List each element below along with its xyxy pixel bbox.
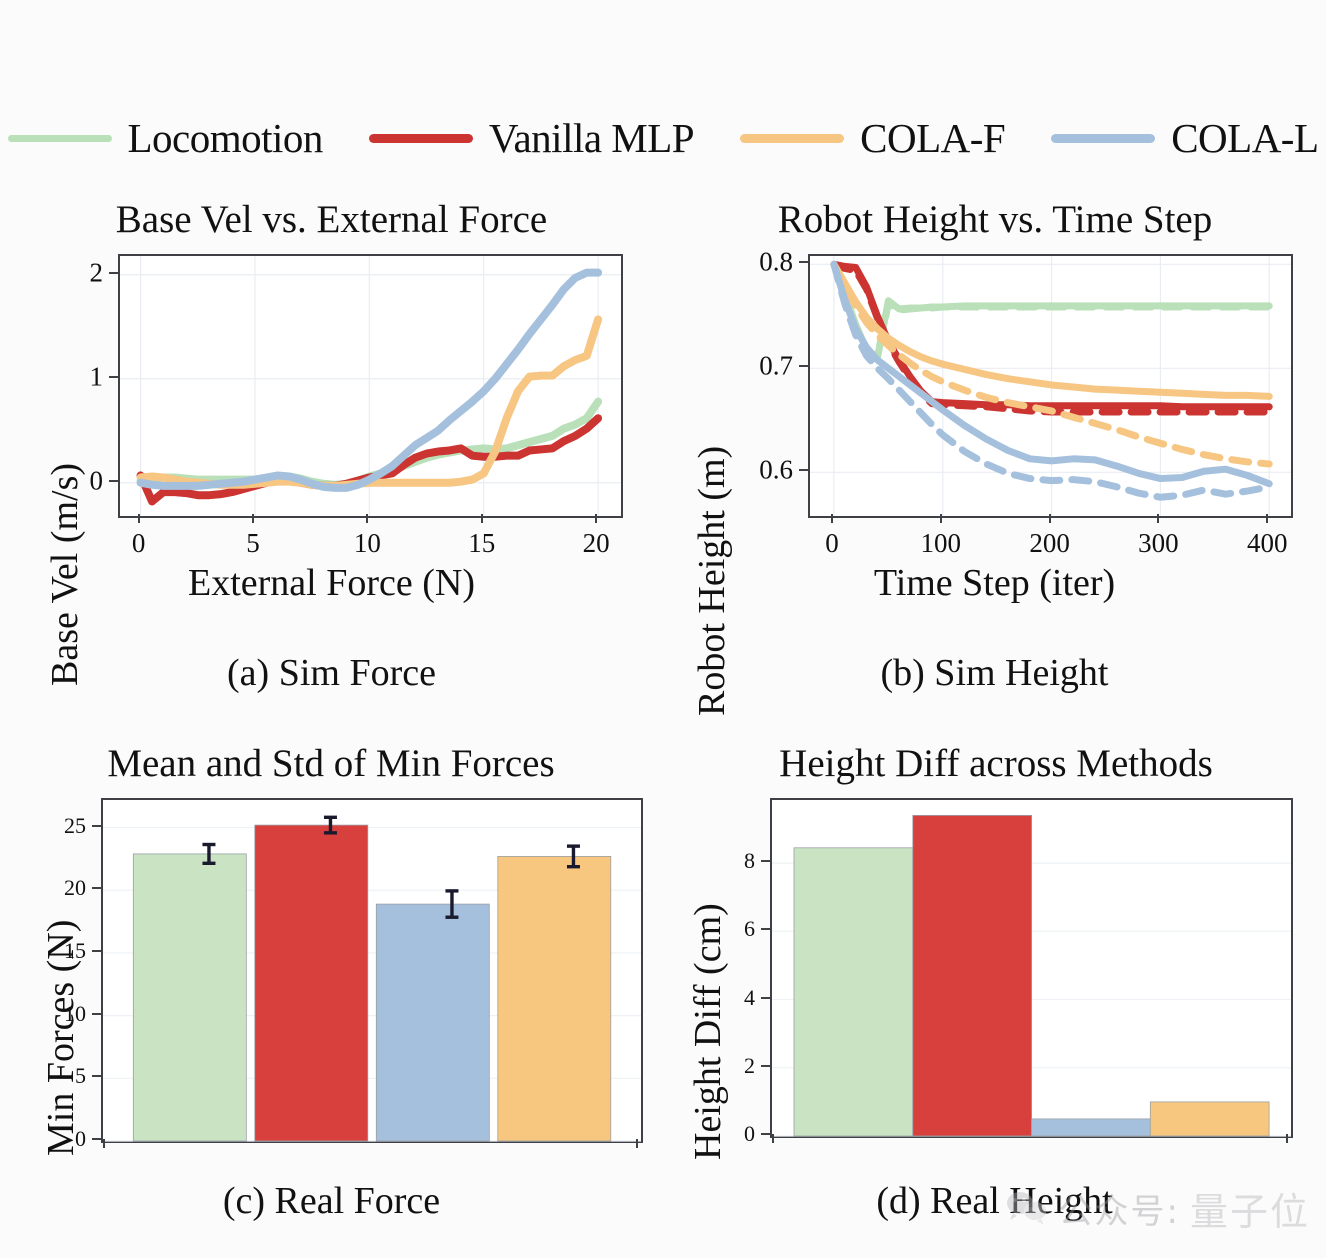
legend-swatch-vanilla-mlp bbox=[369, 134, 473, 143]
watermark: 公众号: 量子位 bbox=[1005, 1181, 1310, 1236]
legend-label-locomotion: Locomotion bbox=[128, 118, 323, 159]
panel-c-ytick bbox=[92, 950, 101, 952]
panel-d-ytick-label: 2 bbox=[667, 1055, 755, 1077]
panel-b-ytick-label: 0.8 bbox=[693, 249, 793, 276]
panel-c-ytick-label: 5 bbox=[0, 1065, 86, 1087]
figure-root: Locomotion Vanilla MLP COLA-F COLA-L Bas… bbox=[0, 0, 1326, 1258]
panel-a-xtick-label: 5 bbox=[246, 530, 260, 557]
panel-b-xtick-label: 400 bbox=[1247, 530, 1288, 557]
panel-a-ytick bbox=[109, 480, 118, 482]
legend-item-locomotion: Locomotion bbox=[8, 118, 323, 159]
panel-b-ytick bbox=[799, 261, 808, 263]
panel-c-ytick-label: 20 bbox=[0, 877, 86, 899]
panel-d-ytick bbox=[761, 997, 770, 999]
legend-item-cola-l: COLA-L bbox=[1051, 118, 1318, 159]
legend-item-cola-f: COLA-F bbox=[740, 118, 1005, 159]
panel-a-xtick-label: 20 bbox=[583, 530, 610, 557]
panel-sim-force: Base Vel vs. External Force Base Vel (m/… bbox=[0, 196, 663, 706]
panel-d-ytick-label: 6 bbox=[667, 918, 755, 940]
legend-swatch-cola-f bbox=[740, 134, 844, 143]
bar bbox=[133, 854, 246, 1141]
panel-b-ytick-label: 0.7 bbox=[693, 353, 793, 380]
panel-b-xtick-label: 200 bbox=[1029, 530, 1070, 557]
panel-d-ytick bbox=[761, 1065, 770, 1067]
panel-b-xtick bbox=[1266, 514, 1268, 523]
panel-a-xtick-label: 15 bbox=[468, 530, 495, 557]
legend-swatch-cola-l bbox=[1051, 134, 1155, 143]
panel-a-title: Base Vel vs. External Force bbox=[0, 200, 663, 239]
panel-b-ytick bbox=[799, 365, 808, 367]
panel-d-ytick bbox=[761, 1133, 770, 1135]
panel-a-plot-area bbox=[118, 254, 623, 518]
panel-c-caption: (c) Real Force bbox=[0, 1182, 663, 1220]
panel-a-xtick-label: 10 bbox=[354, 530, 381, 557]
panel-sim-height: Robot Height vs. Time Step Robot Height … bbox=[663, 196, 1326, 706]
panel-c-title: Mean and Std of Min Forces bbox=[6, 744, 656, 783]
figure-legend: Locomotion Vanilla MLP COLA-F COLA-L bbox=[0, 108, 1326, 168]
legend-label-cola-l: COLA-L bbox=[1171, 118, 1318, 159]
bar bbox=[1032, 1119, 1151, 1136]
panel-a-ytick-label: 1 bbox=[3, 363, 103, 390]
legend-label-cola-f: COLA-F bbox=[860, 118, 1005, 159]
wechat-icon bbox=[1005, 1190, 1049, 1228]
panel-a-ytick-label: 0 bbox=[3, 467, 103, 494]
panel-d-title: Height Diff across Methods bbox=[671, 744, 1321, 783]
panel-a-xlabel: External Force (N) bbox=[0, 564, 663, 602]
panel-c-ytick-label: 25 bbox=[0, 815, 86, 837]
panel-d-ytick bbox=[761, 928, 770, 930]
watermark-prefix: 公众号: bbox=[1059, 1184, 1180, 1233]
panel-b-xtick bbox=[1049, 514, 1051, 523]
panel-d-xtick bbox=[772, 1134, 774, 1143]
panel-a-ytick bbox=[109, 376, 118, 378]
panel-a-ytick bbox=[109, 272, 118, 274]
panel-c-xtick bbox=[636, 1139, 638, 1148]
panel-c-ytick bbox=[92, 887, 101, 889]
legend-swatch-locomotion bbox=[8, 135, 112, 142]
panel-b-title: Robot Height vs. Time Step bbox=[675, 200, 1315, 239]
panel-real-force: Mean and Std of Min Forces Min Forces (N… bbox=[0, 740, 663, 1240]
panel-d-plot-area bbox=[770, 798, 1293, 1138]
panel-a-caption: (a) Sim Force bbox=[0, 654, 663, 692]
panel-b-plot-area bbox=[808, 254, 1293, 518]
bar bbox=[794, 848, 913, 1136]
bars bbox=[133, 817, 611, 1141]
watermark-name: 量子位 bbox=[1190, 1181, 1310, 1236]
panel-a-xtick bbox=[595, 514, 597, 523]
panel-d-ytick-label: 8 bbox=[667, 850, 755, 872]
panel-b-ytick-label: 0.6 bbox=[693, 457, 793, 484]
panel-d-xtick bbox=[1286, 1134, 1288, 1143]
panel-b-xtick-label: 0 bbox=[825, 530, 839, 557]
panel-b-xtick-label: 100 bbox=[921, 530, 962, 557]
panel-c-ytick-label: 0 bbox=[0, 1128, 86, 1150]
bar bbox=[498, 856, 611, 1141]
panel-a-xtick bbox=[366, 514, 368, 523]
bar bbox=[1150, 1102, 1269, 1136]
panel-d-ytick bbox=[761, 860, 770, 862]
bar bbox=[255, 825, 368, 1141]
panel-b-xtick bbox=[1157, 514, 1159, 523]
panel-b-xtick bbox=[831, 514, 833, 523]
panel-real-height: Height Diff across Methods Height Diff (… bbox=[663, 740, 1326, 1240]
panel-a-xtick bbox=[138, 514, 140, 523]
panel-c-ytick-label: 10 bbox=[0, 1003, 86, 1025]
panel-c-ytick bbox=[92, 1075, 101, 1077]
panel-c-ytick-label: 15 bbox=[0, 940, 86, 962]
bar bbox=[913, 815, 1032, 1136]
panel-b-xlabel: Time Step (iter) bbox=[663, 564, 1326, 602]
panel-d-ytick-label: 4 bbox=[667, 987, 755, 1009]
panel-c-ytick bbox=[92, 1013, 101, 1015]
panel-a-xtick-label: 0 bbox=[132, 530, 146, 557]
panel-c-ytick bbox=[92, 1138, 101, 1140]
panel-a-xtick bbox=[481, 514, 483, 523]
panel-b-xtick bbox=[940, 514, 942, 523]
panel-c-ytick bbox=[92, 825, 101, 827]
panel-d-ylabel: Height Diff (cm) bbox=[689, 903, 727, 1160]
panel-b-ytick bbox=[799, 469, 808, 471]
legend-label-vanilla-mlp: Vanilla MLP bbox=[489, 118, 694, 159]
panel-c-xtick bbox=[103, 1139, 105, 1148]
panel-d-ytick-label: 0 bbox=[667, 1123, 755, 1145]
panel-a-xtick bbox=[252, 514, 254, 523]
panel-b-caption: (b) Sim Height bbox=[663, 654, 1326, 692]
panel-a-ytick-label: 2 bbox=[3, 259, 103, 286]
panel-b-xtick-label: 300 bbox=[1138, 530, 1179, 557]
panel-c-plot-area bbox=[101, 798, 643, 1143]
bar bbox=[376, 904, 489, 1141]
legend-item-vanilla-mlp: Vanilla MLP bbox=[369, 118, 694, 159]
